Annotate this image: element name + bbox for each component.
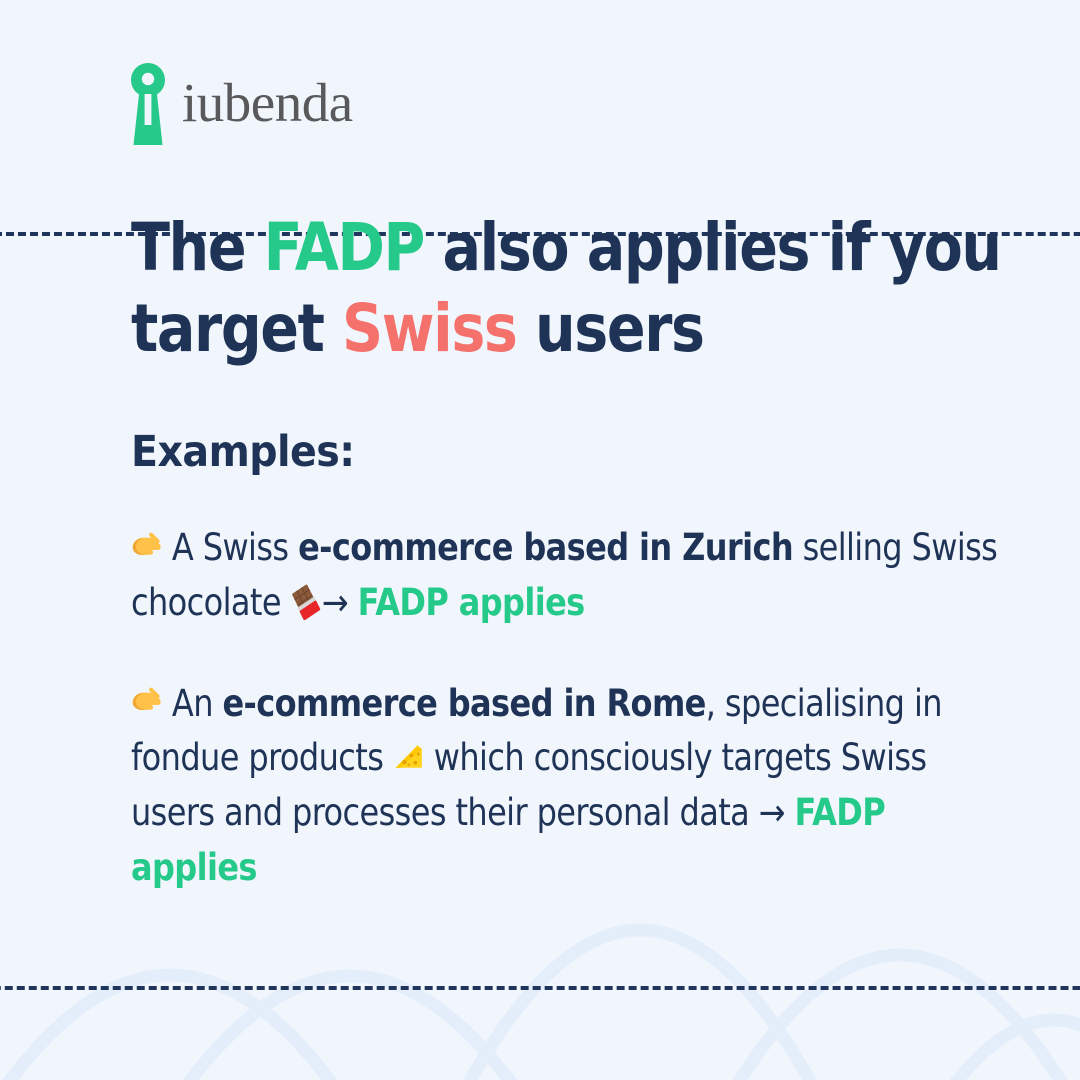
example-1-result: FADP applies (358, 581, 585, 624)
example-1-arrow: → (322, 581, 348, 624)
example-2-pre: An (162, 682, 222, 725)
brand-wordmark: iubenda (182, 75, 353, 130)
keyhole-icon (131, 63, 165, 145)
pointing-finger-emoji (131, 529, 162, 565)
examples-heading: Examples: (131, 427, 949, 477)
cheese-wedge-emoji (393, 739, 424, 775)
headline-part1: The (131, 209, 264, 286)
pointing-finger-emoji (131, 684, 162, 720)
example-item-1: A Swiss e-commerce based in Zurich selli… (131, 521, 1015, 631)
page-title: The FADP also applies if you target Swis… (131, 208, 1015, 369)
headline-highlight-swiss: Swiss (342, 290, 516, 367)
headline-highlight-fadp: FADP (264, 209, 424, 286)
example-2-bold: e-commerce based in Rome (222, 682, 705, 725)
example-2-arrow: → (759, 791, 785, 834)
brand-logo: iubenda (131, 62, 1020, 146)
example-1-bold: e-commerce based in Zurich (298, 526, 793, 569)
example-item-2: An e-commerce based in Rome, specialisin… (131, 677, 1015, 896)
example-1-pre: A Swiss (162, 526, 298, 569)
slide-content: iubenda The FADP also applies if you tar… (0, 0, 1080, 1080)
chocolate-bar-emoji (291, 584, 322, 620)
headline-part3: users (517, 290, 704, 367)
